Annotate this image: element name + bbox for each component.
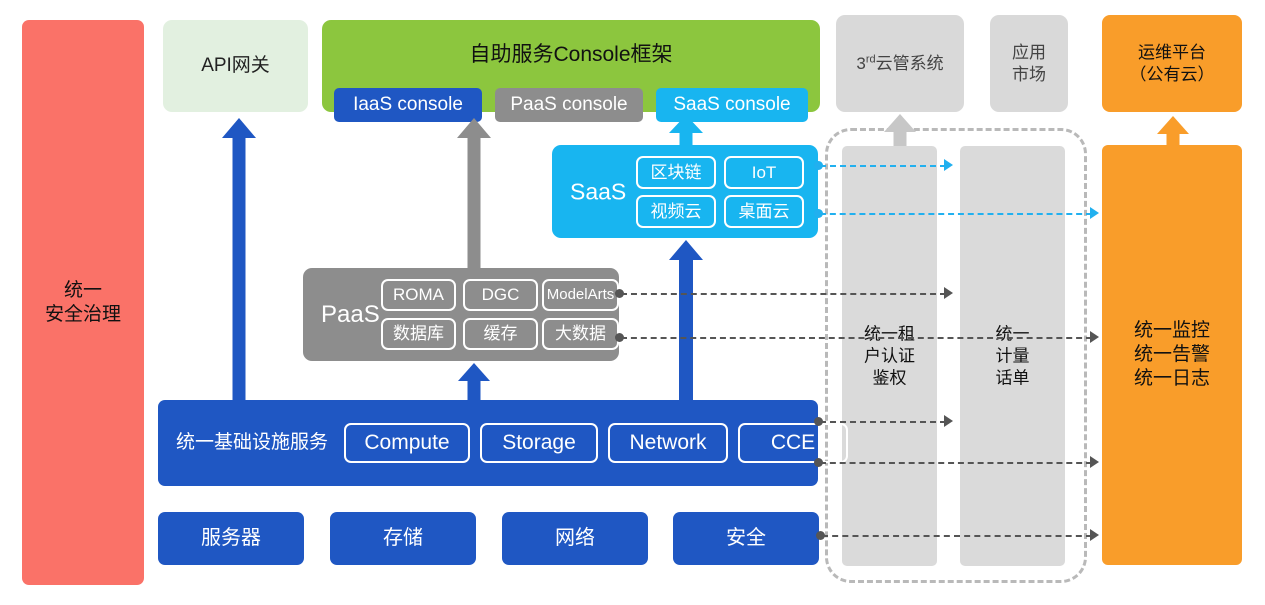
arrow-up-icon-saas-to-console: [669, 115, 703, 147]
saas-chip-iot-label: IoT: [752, 162, 777, 183]
arrow-right-icon-paas-to-ops: [1090, 331, 1099, 343]
saas-chip-video-cloud[interactable]: 视频云: [636, 195, 716, 228]
third-party-cloud-management-system-box[interactable]: 3rd云管系统: [836, 15, 964, 112]
connector-infra-to-metering: [820, 421, 946, 423]
saas-chip-iot[interactable]: IoT: [724, 156, 804, 189]
unified-monitoring-panel[interactable]: 统一监控 统一告警 统一日志: [1102, 145, 1242, 565]
paas-console-button[interactable]: PaaS console: [495, 88, 643, 122]
infra-chip-storage-label: Storage: [502, 430, 576, 456]
third-party-suffix: 云管系统: [876, 54, 944, 73]
infra-chip-storage[interactable]: Storage: [480, 423, 598, 463]
third-party-cloud-management-label: 3rd云管系统: [856, 53, 943, 74]
paas-chip-dgc[interactable]: DGC: [463, 279, 538, 311]
hardware-security-label: 安全: [726, 526, 766, 551]
metering-line-1: 统一: [960, 323, 1065, 345]
infra-chip-cce[interactable]: CCE: [738, 423, 848, 463]
ops-platform-top-label: 运维平台 （公有云）: [1130, 42, 1215, 85]
governance-line-2: 安全治理: [45, 303, 121, 327]
arrow-up-icon-infra-to-paas: [458, 363, 490, 401]
app-market-label: 应用 市场: [1012, 42, 1046, 85]
infra-chip-network[interactable]: Network: [608, 423, 728, 463]
infrastructure-label: 统一基础设施服务: [176, 431, 328, 455]
unified-metering-label: 统一 计量 话单: [960, 323, 1065, 388]
arrow-up-icon-infra-to-api-gateway: [222, 118, 256, 400]
hardware-server-label: 服务器: [201, 526, 261, 551]
api-gateway-label: API网关: [201, 54, 270, 78]
arrow-right-icon-saas-to-ops: [1090, 207, 1099, 219]
hardware-network-label: 网络: [555, 526, 595, 551]
saas-layer[interactable]: SaaS 区块链 IoT 视频云 桌面云: [552, 145, 818, 238]
saas-console-label: SaaS console: [673, 93, 790, 117]
ops-side-label: 统一监控 统一告警 统一日志: [1134, 319, 1210, 390]
iaas-console-label: IaaS console: [353, 93, 463, 117]
saas-chip-blockchain-label: 区块链: [651, 162, 702, 183]
app-market-line-2: 市场: [1012, 64, 1046, 85]
ops-platform-top-line-2: （公有云）: [1130, 64, 1215, 85]
paas-chip-bigdata[interactable]: 大数据: [542, 318, 619, 350]
iaas-console-button[interactable]: IaaS console: [334, 88, 482, 122]
arrow-right-icon-paas-to-metering: [944, 287, 953, 299]
tenant-auth-line-2: 户认证: [842, 345, 937, 367]
app-market-box[interactable]: 应用 市场: [990, 15, 1068, 112]
tenant-auth-line-1: 统一租: [842, 323, 937, 345]
paas-chip-database-label: 数据库: [393, 323, 444, 344]
ops-platform-public-cloud-box[interactable]: 运维平台 （公有云）: [1102, 15, 1242, 112]
paas-chip-bigdata-label: 大数据: [555, 323, 606, 344]
console-frame-title: 自助服务Console框架: [322, 42, 820, 68]
hardware-storage-box[interactable]: 存储: [330, 512, 476, 565]
arrow-right-icon-infra-to-ops: [1090, 456, 1099, 468]
unified-tenant-auth-column[interactable]: 统一租 户认证 鉴权: [842, 146, 937, 566]
arrow-up-icon-paas-to-console: [457, 118, 491, 270]
connector-paas-to-ops: [621, 337, 1092, 339]
self-service-console-frame[interactable]: 自助服务Console框架 IaaS console PaaS console …: [322, 20, 820, 112]
paas-chip-roma[interactable]: ROMA: [381, 279, 456, 311]
saas-chip-blockchain[interactable]: 区块链: [636, 156, 716, 189]
paas-chip-dgc-label: DGC: [482, 284, 520, 305]
saas-chip-desktop-cloud-label: 桌面云: [739, 201, 790, 222]
api-gateway-box[interactable]: API网关: [163, 20, 308, 112]
connector-saas-to-tenant-auth: [820, 165, 946, 167]
infra-chip-cce-label: CCE: [771, 430, 815, 456]
arrow-up-icon-infra-to-saas: [669, 240, 703, 400]
paas-chip-cache[interactable]: 缓存: [463, 318, 538, 350]
paas-console-label: PaaS console: [510, 93, 627, 117]
hardware-security-box[interactable]: 安全: [673, 512, 819, 565]
hardware-network-box[interactable]: 网络: [502, 512, 648, 565]
third-party-prefix: 3: [856, 54, 865, 73]
saas-layer-label: SaaS: [570, 177, 626, 206]
ops-side-line-2: 统一告警: [1134, 343, 1210, 367]
arrow-up-icon-shared-to-third-party: [884, 114, 916, 146]
connector-saas-to-ops: [820, 213, 1092, 215]
paas-chip-modelarts[interactable]: ModelArts: [542, 279, 619, 311]
metering-line-3: 话单: [960, 367, 1065, 389]
paas-chip-modelarts-label: ModelArts: [547, 286, 615, 305]
metering-line-2: 计量: [960, 345, 1065, 367]
unified-infrastructure-services-bar[interactable]: 统一基础设施服务 Compute Storage Network CCE: [158, 400, 818, 486]
governance-label: 统一 安全治理: [45, 279, 121, 327]
ops-side-line-1: 统一监控: [1134, 319, 1210, 343]
arrow-right-icon-saas-to-tenant-auth: [944, 159, 953, 171]
architecture-diagram: 统一 安全治理 API网关 自助服务Console框架 IaaS console…: [0, 0, 1265, 605]
unified-metering-column[interactable]: 统一 计量 话单: [960, 146, 1065, 566]
connector-infra-to-ops: [820, 462, 1092, 464]
hardware-server-box[interactable]: 服务器: [158, 512, 304, 565]
arrow-up-icon-ops-side-to-ops-top: [1157, 116, 1189, 148]
paas-layer[interactable]: PaaS ROMA DGC ModelArts 数据库 缓存 大数据: [303, 268, 619, 361]
infra-chip-compute[interactable]: Compute: [344, 423, 470, 463]
app-market-line-1: 应用: [1012, 42, 1046, 63]
saas-chip-desktop-cloud[interactable]: 桌面云: [724, 195, 804, 228]
paas-chip-roma-label: ROMA: [393, 284, 444, 305]
unified-tenant-auth-label: 统一租 户认证 鉴权: [842, 323, 937, 388]
saas-chip-video-cloud-label: 视频云: [651, 201, 702, 222]
governance-line-1: 统一: [45, 279, 121, 303]
paas-chip-database[interactable]: 数据库: [381, 318, 456, 350]
connector-hardware-to-ops: [822, 535, 1092, 537]
third-party-superscript: rd: [866, 53, 876, 65]
paas-layer-label: PaaS: [321, 300, 380, 330]
connector-paas-to-metering: [621, 293, 946, 295]
ops-platform-top-line-1: 运维平台: [1130, 42, 1215, 63]
infra-chip-compute-label: Compute: [364, 430, 449, 456]
tenant-auth-line-3: 鉴权: [842, 367, 937, 389]
ops-side-line-3: 统一日志: [1134, 367, 1210, 391]
paas-chip-cache-label: 缓存: [484, 323, 518, 344]
arrow-right-icon-infra-to-metering: [944, 415, 953, 427]
hardware-storage-label: 存储: [383, 526, 423, 551]
arrow-right-icon-hardware-to-ops: [1090, 529, 1099, 541]
unified-security-governance-panel[interactable]: 统一 安全治理: [22, 20, 144, 585]
infra-chip-network-label: Network: [629, 430, 706, 456]
